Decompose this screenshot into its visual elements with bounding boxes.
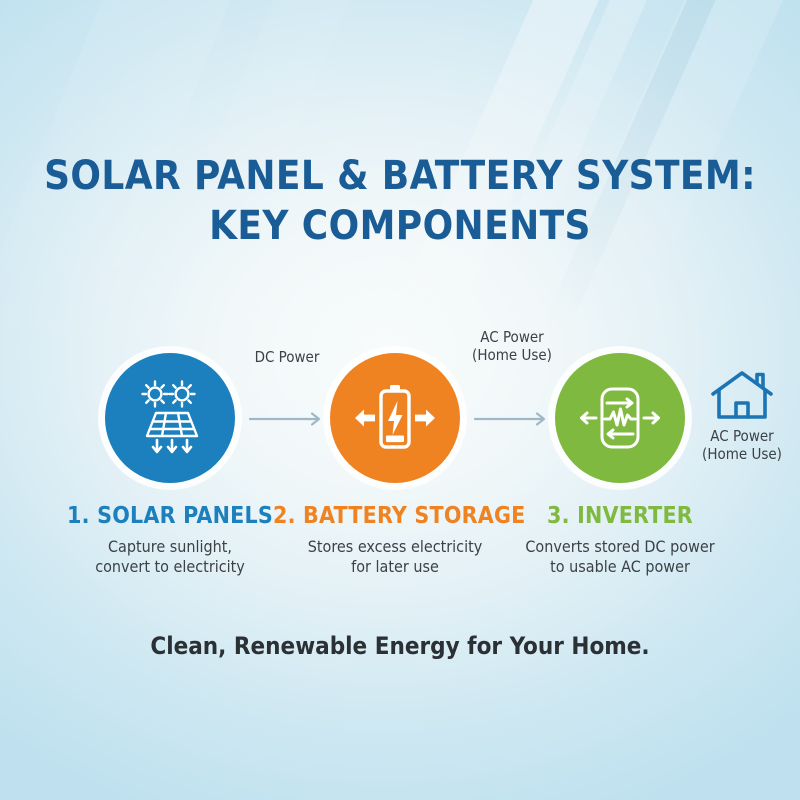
connector-battery-to-inverter: [473, 410, 551, 428]
solar-panel-icon: [127, 375, 213, 461]
flow-output-house[interactable]: AC Power (Home Use): [690, 370, 794, 463]
caption-desc-solar-panels-line-2: convert to electricity: [48, 557, 292, 577]
caption-desc-inverter: Converts stored DC power to usable AC po…: [498, 537, 742, 577]
flow-node-inverter[interactable]: [555, 353, 685, 483]
battery-circle: [330, 353, 460, 483]
page-title-line-1: Solar Panel & Battery System:: [0, 151, 800, 201]
caption-desc-battery-storage-line-2: for later use: [273, 557, 517, 577]
infographic-canvas: Solar Panel & Battery System: Key Compon…: [0, 0, 800, 800]
tagline: Clean, Renewable Energy for Your Home.: [0, 631, 800, 661]
caption-desc-solar-panels-line-1: Capture sunlight,: [48, 537, 292, 557]
connector-label-ac-power: AC Power (Home Use): [452, 328, 572, 364]
connector-solar-to-battery: [248, 410, 326, 428]
connector-label-ac-power-line-1: AC Power: [452, 328, 572, 346]
connector-label-dc-power: DC Power: [227, 348, 347, 366]
caption-title-inverter: 3. Inverter: [498, 503, 742, 530]
inverter-circle: [555, 353, 685, 483]
house-label-line-1: AC Power: [690, 427, 794, 445]
caption-desc-solar-panels: Capture sunlight, convert to electricity: [48, 537, 292, 577]
connector-label-ac-power-line-2: (Home Use): [452, 346, 572, 364]
caption-desc-inverter-line-2: to usable AC power: [498, 557, 742, 577]
caption-title-battery-storage: 2. Battery Storage: [273, 503, 517, 530]
house-label: AC Power (Home Use): [690, 427, 794, 463]
caption-desc-battery-storage: Stores excess electricity for later use: [273, 537, 517, 577]
caption-desc-inverter-line-1: Converts stored DC power: [498, 537, 742, 557]
caption-battery-storage: 2. Battery Storage Stores excess electri…: [273, 503, 517, 577]
caption-title-solar-panels: 1. Solar Panels: [48, 503, 292, 530]
page-title-line-2: Key Components: [0, 201, 800, 251]
flow-node-battery-storage[interactable]: [330, 353, 460, 483]
inverter-icon: [570, 375, 670, 461]
caption-row: 1. Solar Panels Capture sunlight, conver…: [0, 503, 800, 598]
solar-panel-circle: [105, 353, 235, 483]
connector-label-dc-power-line-1: DC Power: [227, 348, 347, 366]
caption-desc-battery-storage-line-1: Stores excess electricity: [273, 537, 517, 557]
caption-solar-panels: 1. Solar Panels Capture sunlight, conver…: [48, 503, 292, 577]
battery-icon: [345, 375, 445, 461]
page-title: Solar Panel & Battery System: Key Compon…: [0, 151, 800, 251]
caption-inverter: 3. Inverter Converts stored DC power to …: [498, 503, 742, 577]
house-label-line-2: (Home Use): [690, 445, 794, 463]
flow-node-solar-panels[interactable]: [105, 353, 235, 483]
house-icon: [709, 370, 775, 422]
